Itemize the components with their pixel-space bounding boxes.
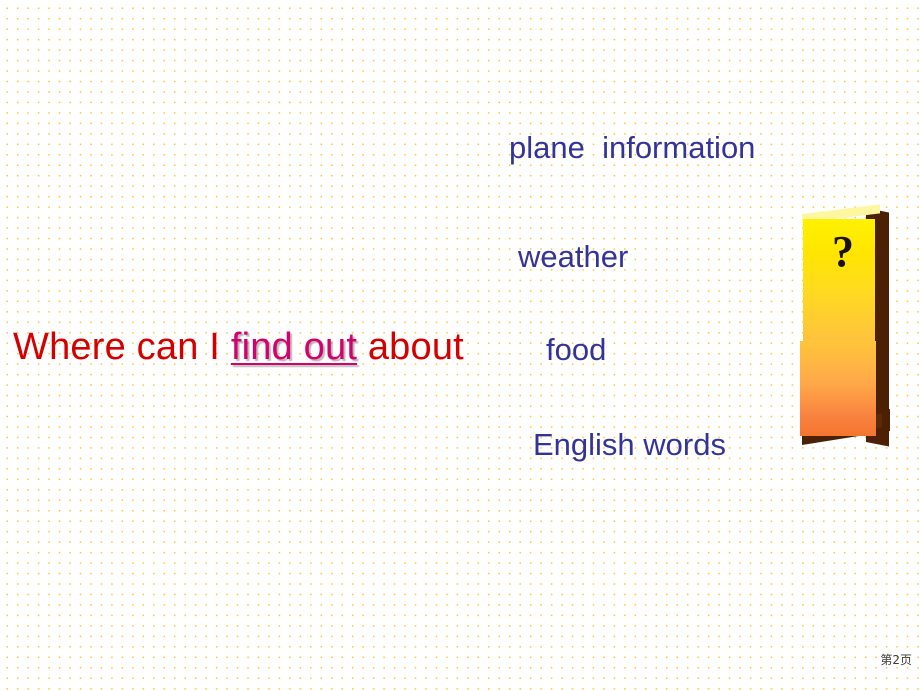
slide-canvas: Where can I find out about plane informa… bbox=[0, 0, 920, 690]
question-mark-icon: ? bbox=[832, 230, 854, 274]
main-question-after: about bbox=[357, 326, 464, 368]
answer-item-plane-information: plane information bbox=[509, 130, 755, 166]
main-question-line: Where can I find out about bbox=[13, 322, 464, 372]
answer-item-english-words: English words bbox=[533, 427, 726, 463]
answer-item-weather: weather bbox=[518, 239, 628, 275]
find-out-highlight: find out bbox=[231, 326, 357, 368]
question-mark-box-graphic: ? bbox=[798, 208, 894, 450]
box-front-lower-panel bbox=[800, 341, 876, 436]
main-question-before: Where can I bbox=[13, 326, 231, 368]
answer-item-food: food bbox=[546, 332, 606, 368]
page-number-footer: 第2页 bbox=[880, 651, 912, 668]
